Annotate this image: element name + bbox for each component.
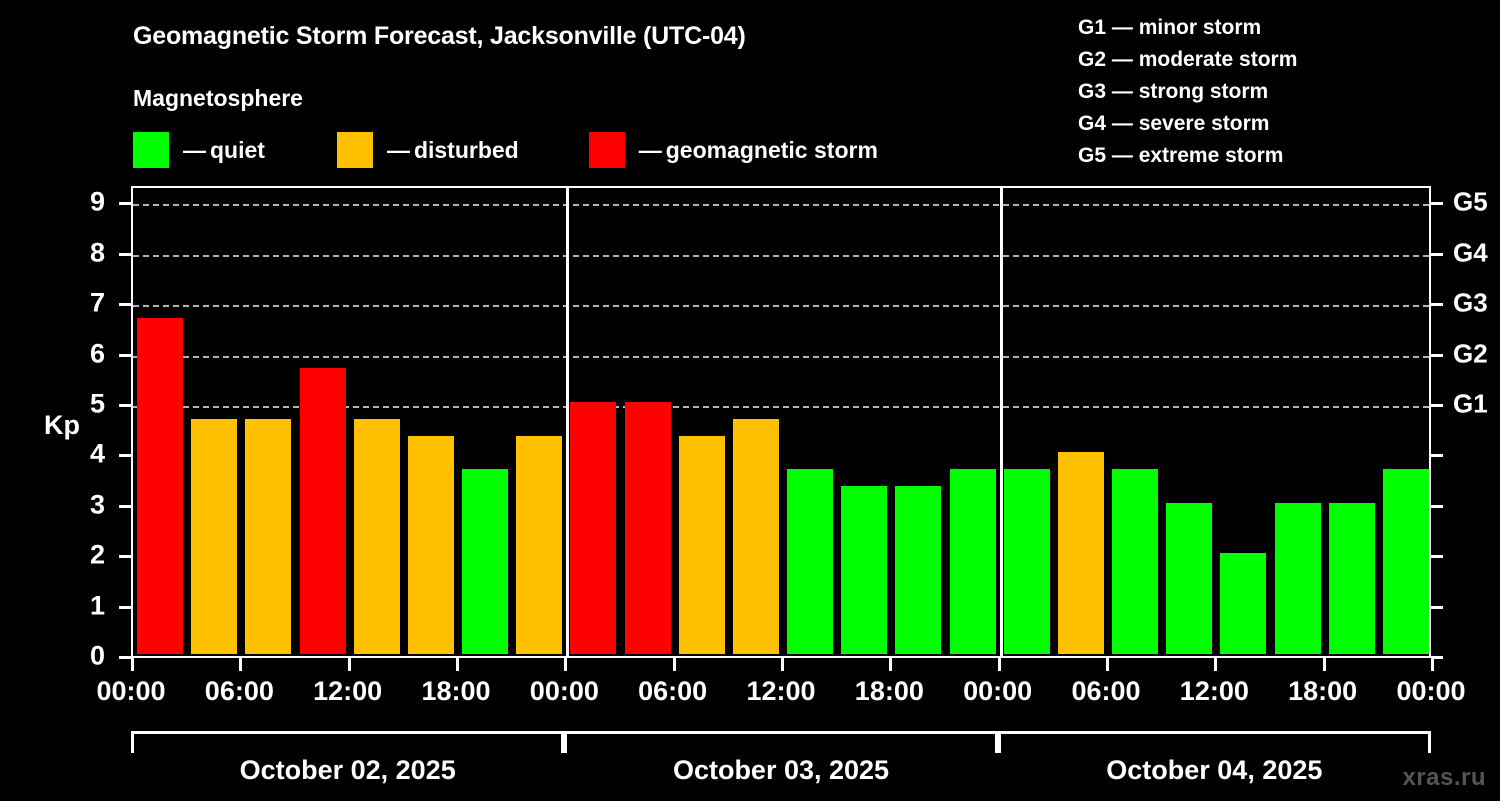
bar bbox=[625, 402, 671, 654]
x-tick-label: 00:00 bbox=[96, 676, 165, 707]
bar bbox=[1275, 503, 1321, 654]
x-tick-label: 18:00 bbox=[855, 676, 924, 707]
y-tick-label-3: 3 bbox=[90, 489, 105, 520]
bar bbox=[679, 436, 725, 654]
y-tick-1 bbox=[119, 606, 131, 609]
y-axis-title-kp: Kp bbox=[44, 410, 80, 441]
y-tick-3 bbox=[119, 505, 131, 508]
g-scale-dash: — bbox=[1106, 48, 1139, 71]
bar bbox=[1220, 553, 1266, 654]
x-tick-label: 12:00 bbox=[1180, 676, 1249, 707]
x-tick-label: 00:00 bbox=[1396, 676, 1465, 707]
watermark: xras.ru bbox=[1402, 764, 1486, 792]
day-label: October 03, 2025 bbox=[673, 755, 889, 786]
x-tick-label: 18:00 bbox=[421, 676, 490, 707]
g-tick-g3 bbox=[1431, 303, 1443, 306]
x-tick-label: 12:00 bbox=[313, 676, 382, 707]
bar bbox=[245, 419, 291, 654]
bars-layer bbox=[133, 188, 1429, 656]
x-tick-8 bbox=[998, 658, 1001, 671]
y-tick-label-9: 9 bbox=[90, 187, 105, 218]
bar bbox=[1112, 469, 1158, 654]
y-tick-9 bbox=[119, 202, 131, 205]
legend-dash: — bbox=[183, 139, 206, 162]
bar bbox=[462, 469, 508, 654]
g-tick-g1 bbox=[1431, 404, 1443, 407]
g-scale-text: moderate storm bbox=[1139, 48, 1298, 71]
g-scale-row-g3: G3 — strong storm bbox=[1078, 76, 1297, 108]
g-minor-tick-1 bbox=[1431, 606, 1443, 609]
y-tick-label-5: 5 bbox=[90, 389, 105, 420]
color-legend: —quiet—disturbed—geomagnetic storm bbox=[133, 131, 878, 169]
bar bbox=[1329, 503, 1375, 654]
day-bracket-1 bbox=[131, 731, 564, 753]
y-axis-right-g-scale: G1G2G3G4G5 bbox=[1431, 186, 1500, 658]
x-tick-label: 18:00 bbox=[1288, 676, 1357, 707]
legend-entry-disturbed: —disturbed bbox=[337, 131, 519, 169]
bar bbox=[191, 419, 237, 654]
x-tick-5 bbox=[673, 658, 676, 671]
bar bbox=[570, 402, 616, 654]
x-tick-1 bbox=[239, 658, 242, 671]
g-tick-g4 bbox=[1431, 253, 1443, 256]
g-minor-tick-2 bbox=[1431, 555, 1443, 558]
day-bracket-3 bbox=[998, 731, 1431, 753]
g-minor-tick-4 bbox=[1431, 454, 1443, 457]
bar bbox=[408, 436, 454, 654]
x-axis: 00:0006:0012:0018:0000:0006:0012:0018:00… bbox=[0, 658, 1500, 718]
x-tick-label: 00:00 bbox=[963, 676, 1032, 707]
bar bbox=[1383, 469, 1429, 654]
g-scale-text: minor storm bbox=[1139, 16, 1262, 39]
y-tick-4 bbox=[119, 454, 131, 457]
x-tick-9 bbox=[1106, 658, 1109, 671]
g-scale-dash: — bbox=[1106, 144, 1139, 167]
legend-label: geomagnetic storm bbox=[666, 139, 878, 162]
g-tick-label-g1: G1 bbox=[1453, 389, 1488, 420]
day-label: October 04, 2025 bbox=[1106, 755, 1322, 786]
bar bbox=[1166, 503, 1212, 654]
bar bbox=[354, 419, 400, 654]
legend-dash: — bbox=[639, 139, 662, 162]
g-tick-label-g5: G5 bbox=[1453, 187, 1488, 218]
x-tick-0 bbox=[131, 658, 134, 671]
x-tick-11 bbox=[1323, 658, 1326, 671]
legend-entry-geomagnetic-storm: —geomagnetic storm bbox=[589, 131, 878, 169]
y-tick-label-2: 2 bbox=[90, 540, 105, 571]
y-tick-label-1: 1 bbox=[90, 590, 105, 621]
g-scale-dash: — bbox=[1106, 112, 1139, 135]
bar bbox=[516, 436, 562, 654]
magnetosphere-section-label: Magnetosphere bbox=[133, 85, 303, 112]
page-title: Geomagnetic Storm Forecast, Jacksonville… bbox=[133, 22, 746, 51]
y-tick-label-7: 7 bbox=[90, 288, 105, 319]
g-scale-legend: G1 — minor stormG2 — moderate stormG3 — … bbox=[1078, 12, 1297, 172]
y-tick-6 bbox=[119, 354, 131, 357]
g-tick-label-g4: G4 bbox=[1453, 237, 1488, 268]
day-label: October 02, 2025 bbox=[240, 755, 456, 786]
g-minor-tick-3 bbox=[1431, 505, 1443, 508]
x-tick-12 bbox=[1431, 658, 1434, 671]
legend-label: quiet bbox=[210, 139, 265, 162]
g-scale-dash: — bbox=[1106, 80, 1139, 103]
g-scale-row-g2: G2 — moderate storm bbox=[1078, 44, 1297, 76]
x-tick-label: 00:00 bbox=[530, 676, 599, 707]
legend-label: disturbed bbox=[414, 139, 519, 162]
g-scale-row-g1: G1 — minor storm bbox=[1078, 12, 1297, 44]
x-tick-3 bbox=[456, 658, 459, 671]
x-tick-4 bbox=[564, 658, 567, 671]
orange-square-icon bbox=[337, 132, 373, 168]
bar bbox=[841, 486, 887, 654]
g-scale-text: severe storm bbox=[1139, 112, 1270, 135]
g-tick-label-g3: G3 bbox=[1453, 288, 1488, 319]
legend-entry-quiet: —quiet bbox=[133, 131, 265, 169]
g-scale-code: G5 bbox=[1078, 144, 1106, 167]
g-scale-row-g4: G4 — severe storm bbox=[1078, 108, 1297, 140]
bar bbox=[1004, 469, 1050, 654]
g-scale-dash: — bbox=[1106, 16, 1139, 39]
bar bbox=[1058, 452, 1104, 654]
red-square-icon bbox=[589, 132, 625, 168]
x-tick-7 bbox=[889, 658, 892, 671]
green-square-icon bbox=[133, 132, 169, 168]
y-tick-2 bbox=[119, 555, 131, 558]
x-tick-6 bbox=[781, 658, 784, 671]
g-scale-text: strong storm bbox=[1139, 80, 1269, 103]
g-tick-label-g2: G2 bbox=[1453, 338, 1488, 369]
bar bbox=[950, 469, 996, 654]
x-tick-label: 06:00 bbox=[205, 676, 274, 707]
x-tick-label: 12:00 bbox=[746, 676, 815, 707]
g-tick-g2 bbox=[1431, 354, 1443, 357]
bar bbox=[300, 368, 346, 654]
x-tick-label: 06:00 bbox=[1071, 676, 1140, 707]
g-scale-code: G4 bbox=[1078, 112, 1106, 135]
g-scale-row-g5: G5 — extreme storm bbox=[1078, 140, 1297, 172]
g-scale-code: G1 bbox=[1078, 16, 1106, 39]
y-tick-5 bbox=[119, 404, 131, 407]
x-tick-10 bbox=[1214, 658, 1217, 671]
bar bbox=[787, 469, 833, 654]
day-brackets: October 02, 2025October 03, 2025October … bbox=[0, 731, 1500, 801]
y-tick-7 bbox=[119, 303, 131, 306]
day-bracket-2 bbox=[564, 731, 997, 753]
bar bbox=[895, 486, 941, 654]
y-tick-label-8: 8 bbox=[90, 237, 105, 268]
x-tick-2 bbox=[348, 658, 351, 671]
legend-dash: — bbox=[387, 139, 410, 162]
g-tick-g5 bbox=[1431, 202, 1443, 205]
g-scale-code: G2 bbox=[1078, 48, 1106, 71]
bar bbox=[733, 419, 779, 654]
x-tick-label: 06:00 bbox=[638, 676, 707, 707]
y-tick-label-6: 6 bbox=[90, 338, 105, 369]
g-scale-text: extreme storm bbox=[1139, 144, 1284, 167]
plot-area bbox=[131, 186, 1431, 658]
y-tick-label-4: 4 bbox=[90, 439, 105, 470]
g-scale-code: G3 bbox=[1078, 80, 1106, 103]
y-tick-8 bbox=[119, 253, 131, 256]
bar bbox=[137, 318, 183, 654]
